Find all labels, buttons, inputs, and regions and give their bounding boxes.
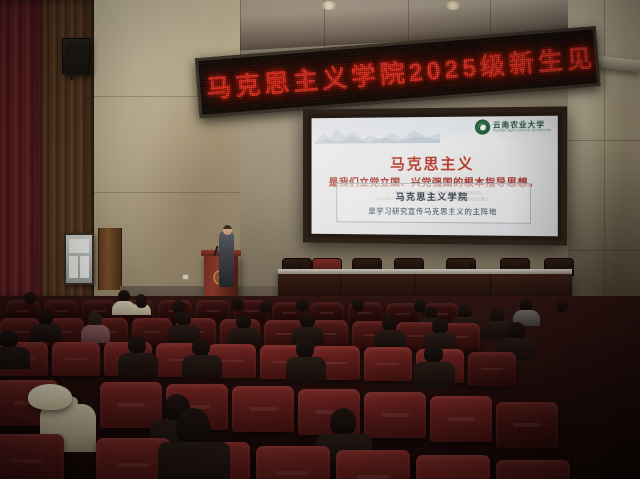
presenter-body: [219, 231, 234, 287]
seat: [364, 347, 412, 381]
wall-outlet: [182, 274, 189, 280]
presenter-head: [223, 225, 232, 235]
slide-box-line-2: 是学习研究宣传马克思主义的主阵地: [368, 205, 497, 217]
ink-painting-decoration: [313, 121, 440, 144]
seat: [52, 342, 100, 376]
notice-board: [64, 233, 94, 285]
seat: [430, 396, 492, 442]
slide-title: 马克思主义: [312, 152, 558, 174]
wall-speaker-icon: [62, 38, 90, 74]
seat: [364, 392, 426, 438]
ceiling-downlight: [444, 1, 462, 10]
slide-box-line-1: 马克思主义学院: [396, 189, 469, 202]
seat: [256, 446, 330, 479]
university-seal-icon: [475, 119, 490, 134]
seat: [416, 455, 490, 479]
speaker-mount-bracket: [70, 70, 73, 80]
seat: [496, 402, 558, 448]
auditorium-scene: 马克思主义学院2025级新生见面会 云南农业大学 Yunnan Agricult…: [0, 0, 640, 479]
head-table-top: [278, 269, 572, 274]
ceiling-downlight: [320, 1, 338, 10]
presentation-slide: 云南农业大学 Yunnan Agricultural University 马克…: [312, 116, 558, 237]
university-logo: 云南农业大学 Yunnan Agricultural University: [475, 119, 552, 135]
slide-callout-box: 马克思主义学院 是学习研究宣传马克思主义的主阵地: [336, 183, 531, 224]
stage-curtain: [0, 0, 46, 300]
seat: [336, 450, 410, 479]
projection-screen: 云南农业大学 Yunnan Agricultural University 马克…: [303, 106, 567, 245]
seat: [496, 460, 570, 479]
seat: [232, 386, 294, 432]
cream-baseball-cap: [28, 384, 72, 410]
university-name-en: Yunnan Agricultural University: [493, 129, 552, 133]
side-door[interactable]: [98, 228, 122, 290]
seat: [0, 434, 64, 479]
seat: [468, 352, 516, 386]
